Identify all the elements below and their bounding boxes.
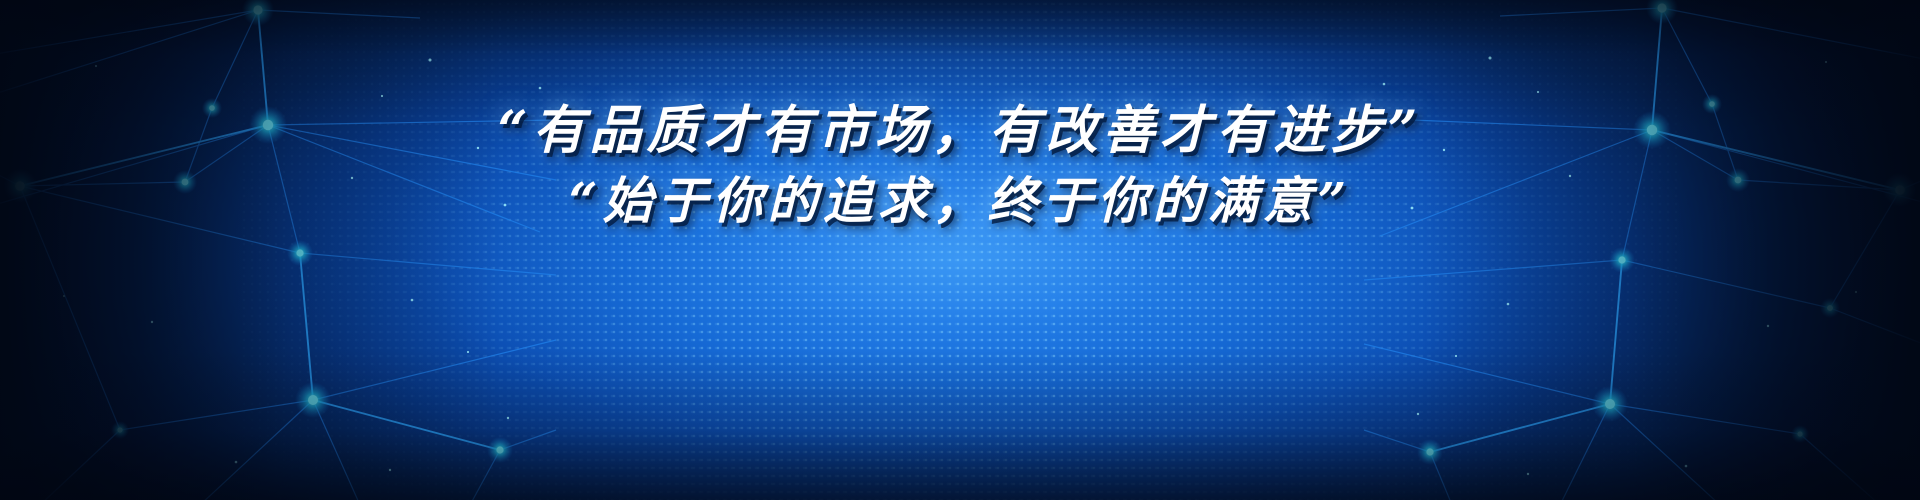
hero-banner: “有品质才有市场，有改善才有进步” “始于你的追求，终于你的满意” xyxy=(0,0,1920,500)
headline-line-1: “有品质才有市场，有改善才有进步” xyxy=(0,96,1920,166)
vertical-vignette xyxy=(0,0,1920,500)
headline-line-2: “始于你的追求，终于你的满意” xyxy=(0,166,1920,236)
headline-block: “有品质才有市场，有改善才有进步” “始于你的追求，终于你的满意” xyxy=(0,96,1920,236)
